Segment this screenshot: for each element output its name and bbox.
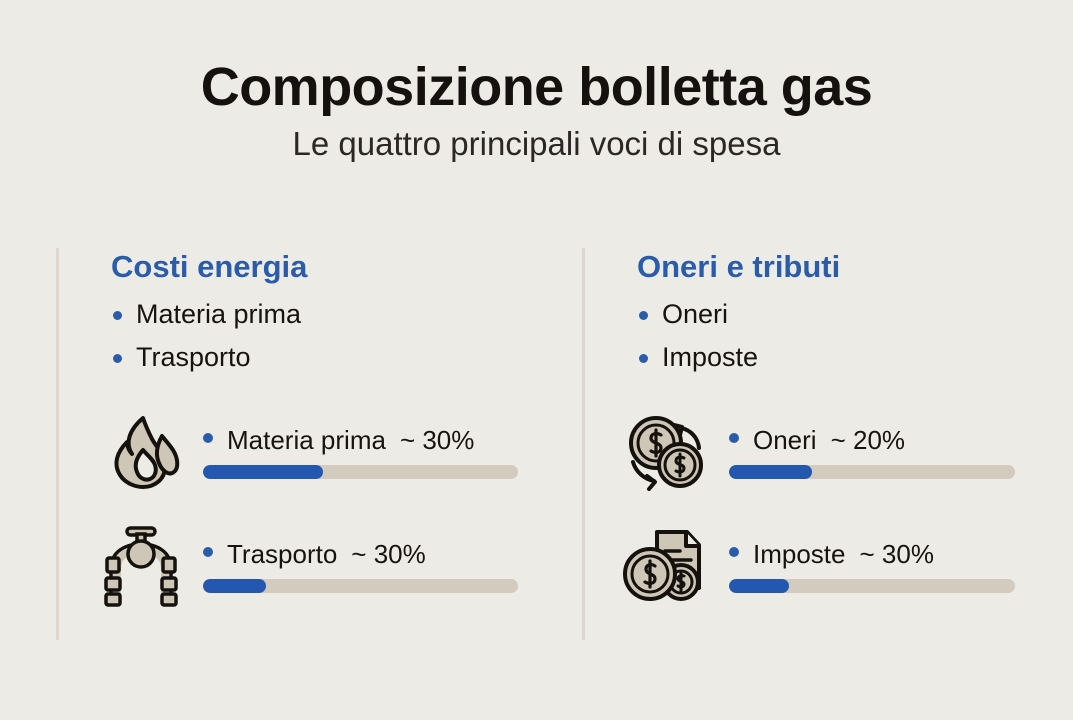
stat-label: Imposte — [753, 539, 846, 570]
bullet-dot-icon — [203, 433, 213, 443]
stat-label-line: Materia prima ~ 30% — [203, 425, 526, 456]
progress-bar-track — [203, 465, 518, 479]
stat-label: Materia prima — [227, 425, 386, 456]
invoice-coins-icon — [621, 520, 713, 612]
progress-bar-track — [729, 465, 1015, 479]
column-costi-energia: Costi energia Materia prima Trasporto — [56, 248, 526, 640]
page-title: Composizione bolletta gas — [0, 58, 1073, 116]
stat-percent: ~ 30% — [351, 539, 425, 570]
bullet-dot-icon — [729, 547, 739, 557]
bullet-dot-icon — [729, 433, 739, 443]
progress-bar-fill — [729, 465, 812, 479]
columns-container: Costi energia Materia prima Trasporto — [0, 248, 1073, 640]
coins-exchange-icon — [621, 406, 713, 498]
stat-body: Oneri ~ 20% — [713, 425, 1052, 479]
list-item: Trasporto — [111, 336, 526, 380]
stat-body: Imposte ~ 30% — [713, 539, 1052, 593]
stat-label-line: Oneri ~ 20% — [729, 425, 1052, 456]
infographic-page: Composizione bolletta gas Le quattro pri… — [0, 0, 1073, 720]
stat-percent: ~ 30% — [860, 539, 934, 570]
progress-bar-fill — [729, 579, 789, 593]
stat-body: Materia prima ~ 30% — [187, 425, 526, 479]
column-heading: Oneri e tributi — [637, 248, 1052, 287]
stat-row-oneri: Oneri ~ 20% — [621, 406, 1052, 498]
column-oneri-tributi: Oneri e tributi Oneri Imposte — [582, 248, 1052, 640]
stat-percent: ~ 20% — [831, 425, 905, 456]
list-item: Oneri — [637, 293, 1052, 337]
stat-row-trasporto: Trasporto ~ 30% — [95, 520, 526, 612]
stat-row-materia-prima: Materia prima ~ 30% — [95, 406, 526, 498]
bullet-dot-icon — [203, 547, 213, 557]
progress-bar-track — [729, 579, 1015, 593]
stat-row-imposte: Imposte ~ 30% — [621, 520, 1052, 612]
stat-percent: ~ 30% — [400, 425, 474, 456]
progress-bar-fill — [203, 579, 266, 593]
column-bullet-list: Materia prima Trasporto — [111, 293, 526, 380]
stat-label-line: Imposte ~ 30% — [729, 539, 1052, 570]
stat-label-line: Trasporto ~ 30% — [203, 539, 526, 570]
pipe-valve-icon — [95, 520, 187, 612]
stat-label: Oneri — [753, 425, 817, 456]
list-item: Imposte — [637, 336, 1052, 380]
column-heading: Costi energia — [111, 248, 526, 287]
stat-body: Trasporto ~ 30% — [187, 539, 526, 593]
progress-bar-fill — [203, 465, 323, 479]
progress-bar-track — [203, 579, 518, 593]
column-bullet-list: Oneri Imposte — [637, 293, 1052, 380]
list-item: Materia prima — [111, 293, 526, 337]
flame-icon — [95, 406, 187, 498]
page-subtitle: Le quattro principali voci di spesa — [0, 126, 1073, 162]
header: Composizione bolletta gas Le quattro pri… — [0, 0, 1073, 163]
stat-label: Trasporto — [227, 539, 337, 570]
